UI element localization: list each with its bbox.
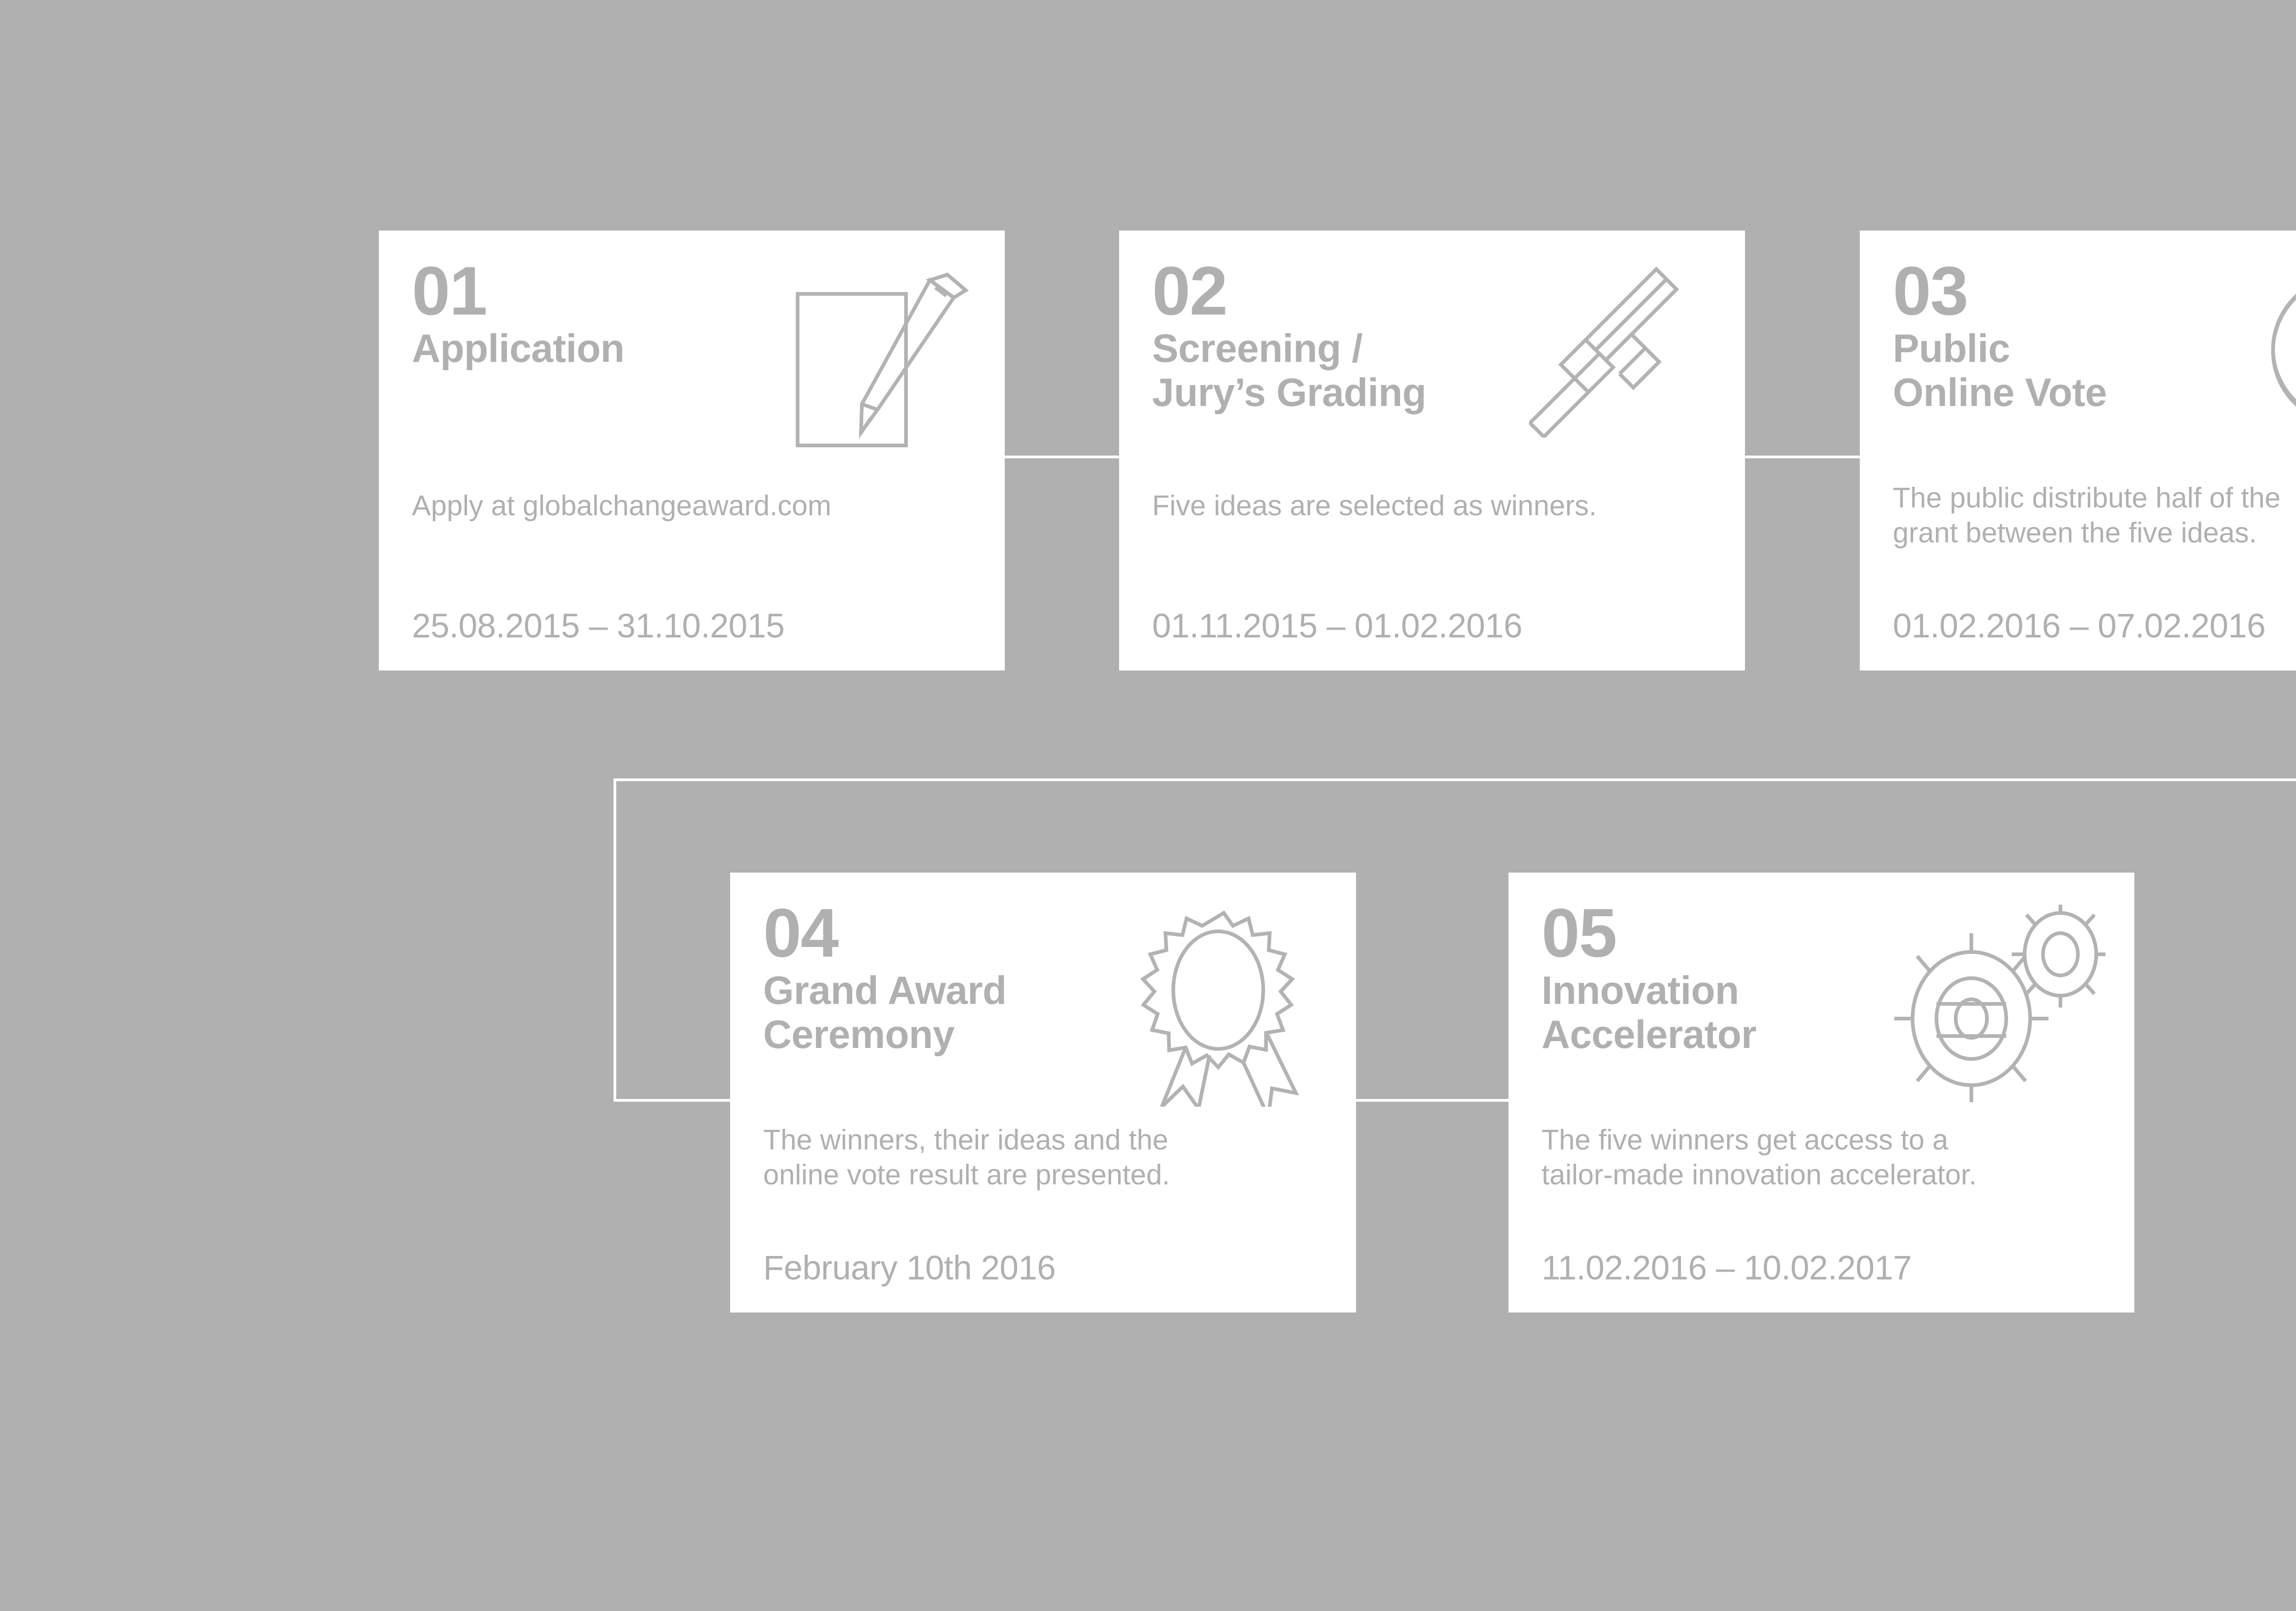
card-04-number: 04 xyxy=(763,900,1323,966)
card-04-title: Grand Award Ceremony xyxy=(763,969,1323,1057)
card-04-description: The winners, their ideas and the online … xyxy=(763,1123,1323,1192)
card-01-date: 25.08.2015 – 31.10.2015 xyxy=(412,607,972,644)
card-03-description-slot: The public distribute half of the grant … xyxy=(1893,481,2296,550)
card-03-number: 03 xyxy=(1893,258,2296,324)
connector-03-to-04-segment-down-left xyxy=(613,778,616,1102)
card-03-header: 03 Public Online Vote xyxy=(1893,258,2296,415)
card-02-description: Five ideas are selected as winners. xyxy=(1152,489,1712,524)
card-03-title: Public Online Vote xyxy=(1893,327,2296,415)
card-01-number: 01 xyxy=(412,258,972,324)
card-02-date: 01.11.2015 – 01.02.2016 xyxy=(1152,607,1712,644)
card-02-header: 02 Screening / Jury’s Grading xyxy=(1152,258,1712,415)
card-05-header: 05 Innovation Accelerator xyxy=(1542,900,2101,1057)
timeline-card-05[interactable]: 05 Innovation Accelerator xyxy=(1508,873,2134,1312)
card-02-number: 02 xyxy=(1152,258,1712,324)
card-04-date: February 10th 2016 xyxy=(763,1249,1323,1286)
card-03-date: 01.02.2016 – 07.02.2016 xyxy=(1893,607,2296,644)
timeline-canvas: 01 Application Apply at globalchangeawar… xyxy=(0,0,2296,1611)
timeline-card-01[interactable]: 01 Application Apply at globalchangeawar… xyxy=(379,231,1005,670)
card-05-date: 11.02.2016 – 10.02.2017 xyxy=(1542,1249,2101,1286)
card-05-description: The five winners get access to a tailor-… xyxy=(1542,1123,2101,1192)
card-04-header: 04 Grand Award Ceremony xyxy=(763,900,1323,1057)
timeline-card-04[interactable]: 04 Grand Award Ceremony The winners, the… xyxy=(730,873,1356,1312)
card-02-description-slot: Five ideas are selected as winners. xyxy=(1152,489,1712,524)
card-05-date-slot: 11.02.2016 – 10.02.2017 xyxy=(1542,1249,2101,1286)
connector-01-to-02 xyxy=(1005,456,1119,458)
card-01-title: Application xyxy=(412,327,972,371)
card-01-description: Apply at globalchangeaward.com xyxy=(412,489,972,524)
card-05-title: Innovation Accelerator xyxy=(1542,969,2101,1057)
card-01-date-slot: 25.08.2015 – 31.10.2015 xyxy=(412,607,972,644)
connector-04-to-05 xyxy=(1356,1099,1508,1102)
connector-03-to-04-segment-left xyxy=(613,778,2296,781)
card-02-date-slot: 01.11.2015 – 01.02.2016 xyxy=(1152,607,1712,644)
card-05-number: 05 xyxy=(1542,900,2101,966)
card-03-description: The public distribute half of the grant … xyxy=(1893,481,2296,550)
card-01-header: 01 Application xyxy=(412,258,972,371)
card-01-description-slot: Apply at globalchangeaward.com xyxy=(412,489,972,524)
card-03-date-slot: 01.02.2016 – 07.02.2016 xyxy=(1893,607,2296,644)
card-04-date-slot: February 10th 2016 xyxy=(763,1249,1323,1286)
timeline-card-02[interactable]: 02 Screening / Jury’s Grading Five ideas… xyxy=(1119,231,1745,670)
timeline-card-03[interactable]: 03 Public Online Vote The public distrib… xyxy=(1860,231,2296,670)
connector-03-to-04-segment-enter xyxy=(613,1099,730,1102)
connector-02-to-03 xyxy=(1745,456,1860,458)
card-05-description-slot: The five winners get access to a tailor-… xyxy=(1542,1123,2101,1192)
card-04-description-slot: The winners, their ideas and the online … xyxy=(763,1123,1323,1192)
card-02-title: Screening / Jury’s Grading xyxy=(1152,327,1712,415)
